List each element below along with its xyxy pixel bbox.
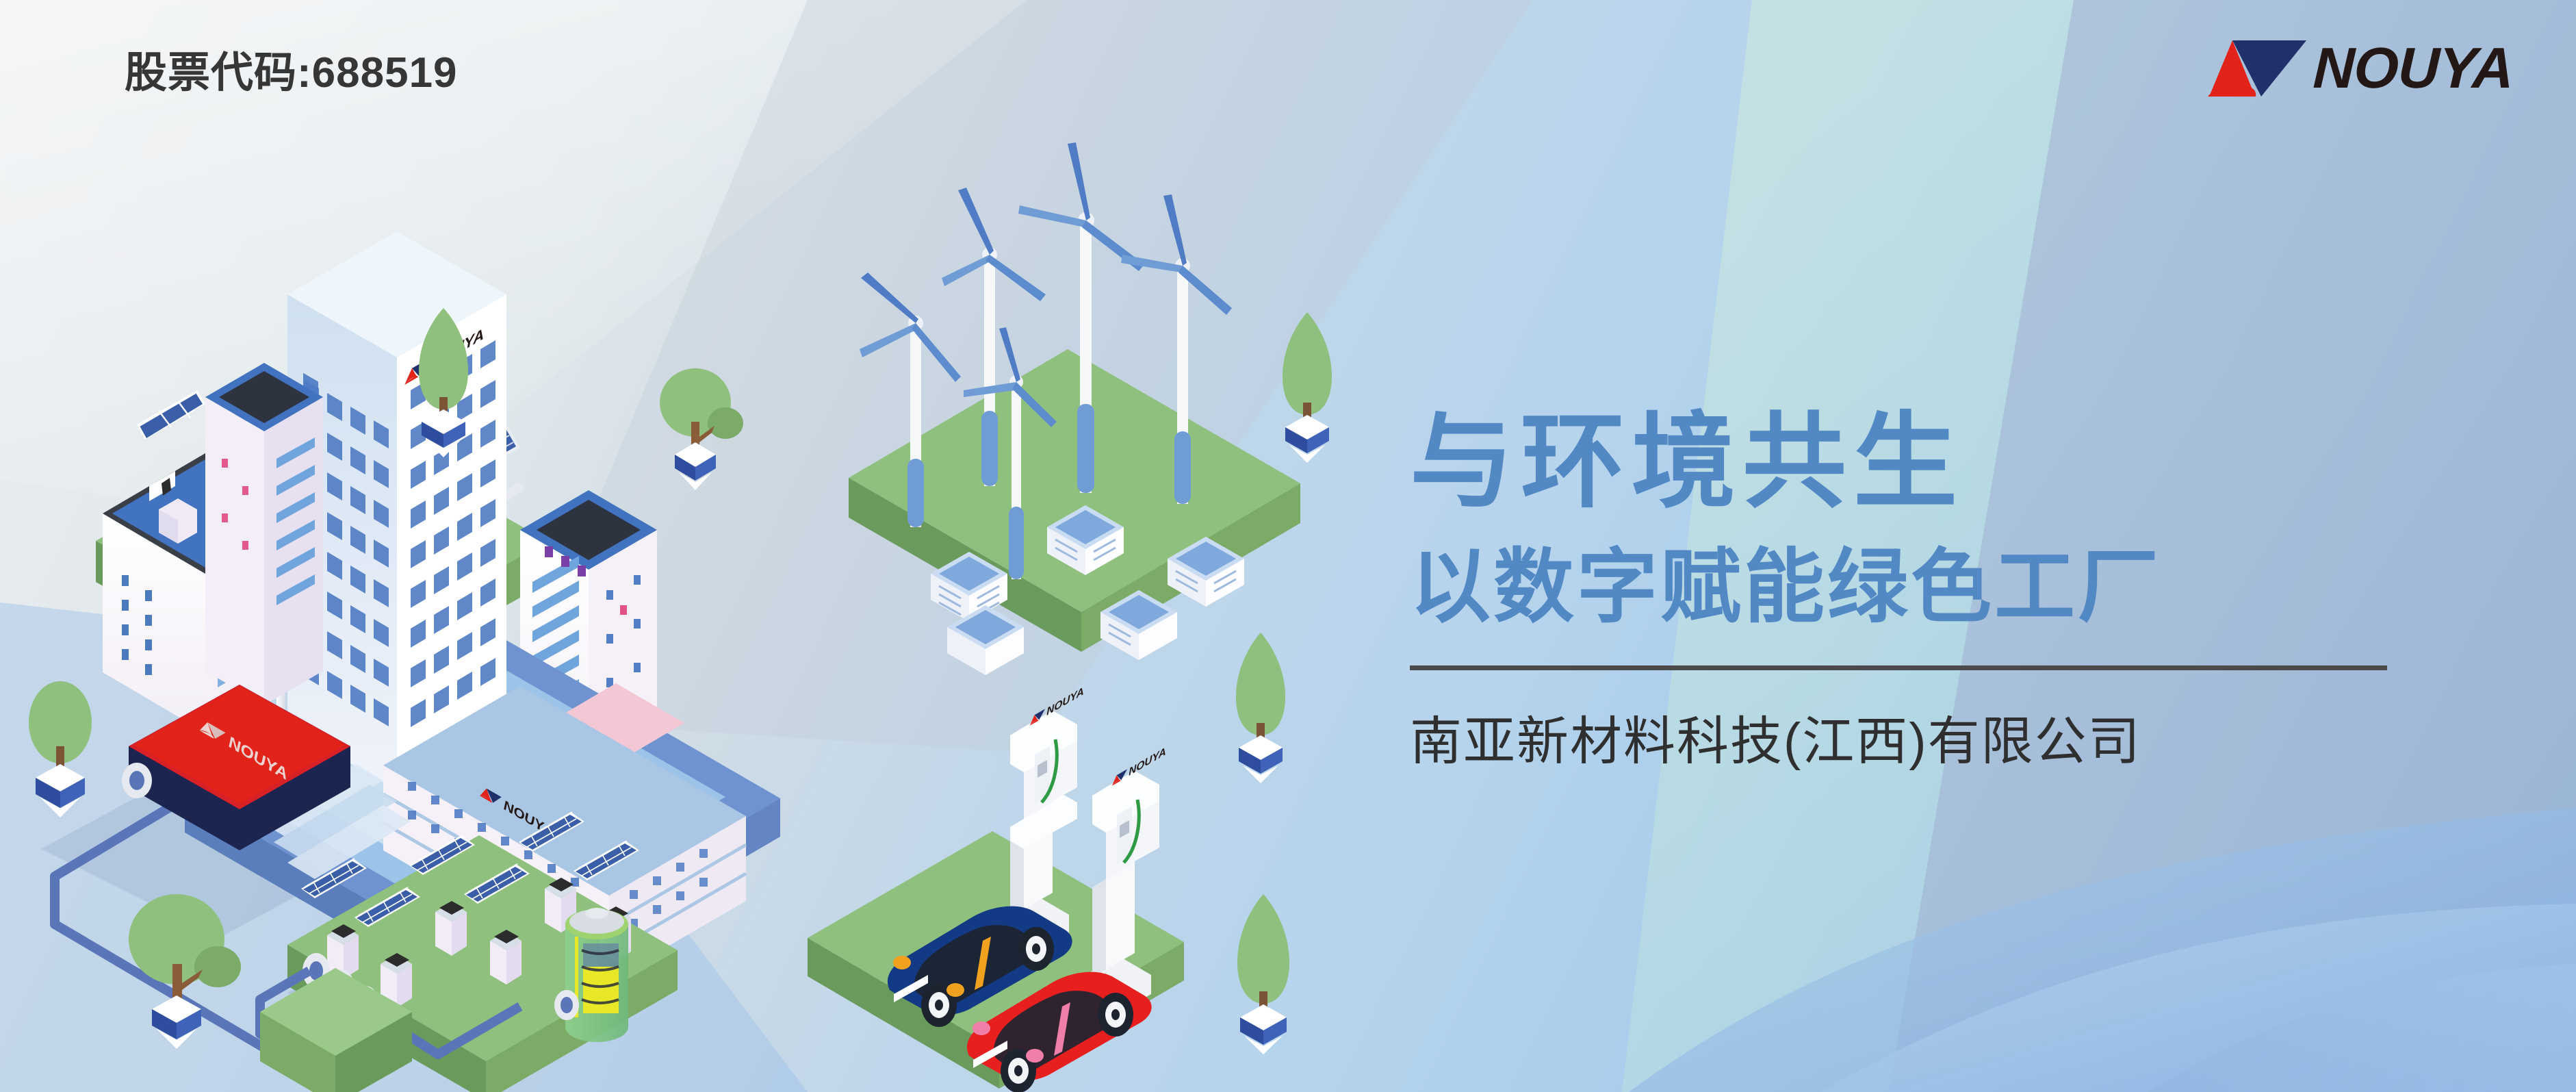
stock-code-label: 股票代码:688519 xyxy=(125,38,458,99)
battery-storage-cell xyxy=(554,908,628,1042)
illustration-svg: NOUYA xyxy=(0,103,1341,1092)
landscape-tree xyxy=(1237,894,1289,1054)
headline-primary: 与环境共生 xyxy=(1410,404,2477,520)
headline-secondary: 以数字赋能绿色工厂 xyxy=(1410,535,2477,640)
landscape-tree xyxy=(29,681,92,817)
svg-text:NOUYA: NOUYA xyxy=(1046,685,1083,718)
company-name: 南亚新材料科技(江西)有限公司 xyxy=(1410,699,2477,774)
banner-stage: 股票代码:688519 NOUYA 与环境共生 以数字赋能绿色工厂 南亚新材料科… xyxy=(0,0,2576,1092)
nouya-wordmark: NOUYA xyxy=(2312,39,2514,97)
svg-text:NOUYA: NOUYA xyxy=(1129,745,1165,778)
copy-block: 与环境共生 以数字赋能绿色工厂 南亚新材料科技(江西)有限公司 xyxy=(1410,404,2477,774)
landscape-tree xyxy=(1283,312,1332,463)
secondary-tower xyxy=(205,363,323,705)
landscape-tree xyxy=(1236,633,1285,783)
headline-divider xyxy=(1410,665,2387,670)
isometric-city-illustration: NOUYA xyxy=(0,103,1341,1092)
nouya-logo: NOUYA xyxy=(2190,38,2513,98)
wind-turbine-farm xyxy=(849,142,1300,675)
nouya-logo-mark-icon xyxy=(2190,38,2306,98)
landscape-tree xyxy=(660,368,743,490)
